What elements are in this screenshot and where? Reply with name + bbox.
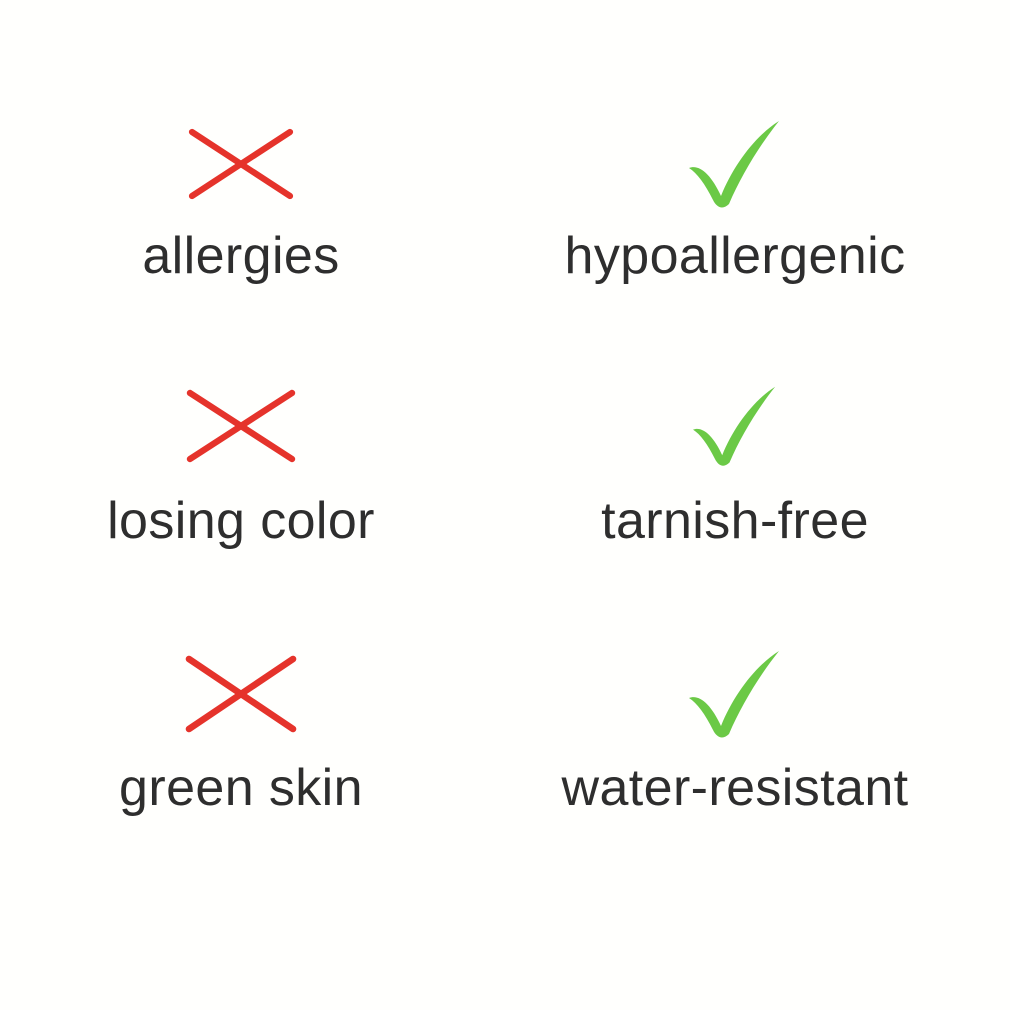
- comparison-label-negative-1: allergies: [142, 226, 339, 287]
- comparison-grid: allergies hypoallergenic losing color: [0, 0, 1010, 1010]
- comparison-cell-negative-2: losing color: [11, 383, 471, 598]
- comparison-label-negative-3: green skin: [119, 758, 363, 819]
- check-icon: [675, 383, 795, 469]
- cross-icon: [181, 383, 301, 469]
- comparison-label-negative-2: losing color: [107, 491, 375, 552]
- comparison-label-positive-3: water-resistant: [562, 758, 909, 819]
- comparison-label-positive-2: tarnish-free: [601, 491, 869, 552]
- comparison-cell-positive-2: tarnish-free: [505, 383, 965, 598]
- comparison-cell-positive-3: water-resistant: [505, 648, 965, 863]
- benefits-comparison-graphic: allergies hypoallergenic losing color: [0, 0, 1010, 1010]
- comparison-cell-negative-3: green skin: [11, 648, 471, 863]
- cross-icon: [181, 648, 301, 740]
- check-icon: [675, 118, 795, 210]
- comparison-cell-negative-1: allergies: [11, 118, 471, 333]
- comparison-label-positive-1: hypoallergenic: [565, 226, 906, 287]
- cross-icon: [181, 118, 301, 210]
- check-icon: [675, 648, 795, 740]
- comparison-cell-positive-1: hypoallergenic: [505, 118, 965, 333]
